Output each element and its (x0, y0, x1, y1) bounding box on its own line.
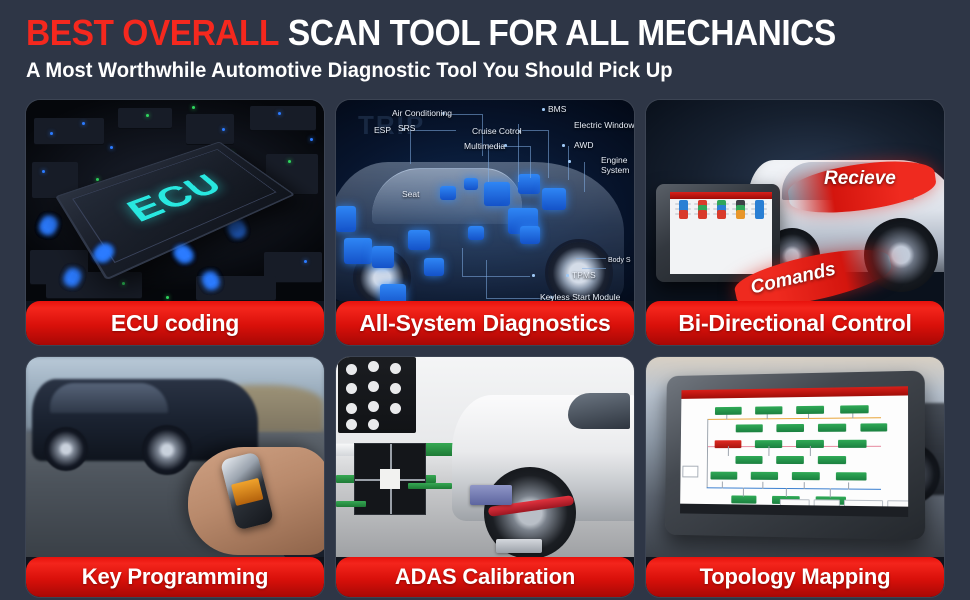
feature-card-adas-calibration[interactable]: ADAS Calibration (336, 357, 634, 597)
callout-tpms: TPMS (572, 270, 596, 280)
feature-card-ecu-coding[interactable]: ECU ECU coding (26, 100, 324, 345)
topology-tablet (665, 371, 925, 541)
callout-awd: AWD (574, 140, 594, 150)
card-label-all-system-diagnostics[interactable]: All-System Diagnostics (336, 301, 634, 345)
callout-seat: Seat (402, 189, 420, 199)
ecu-chip-label: ECU (118, 167, 232, 229)
callout-bms: BMS (548, 104, 566, 114)
all-system-diagnostics-image: TRIP (336, 100, 634, 301)
feature-card-topology-mapping[interactable]: Topology Mapping (646, 357, 944, 597)
feature-card-grid: ECU ECU coding TRIP (26, 100, 944, 597)
headline-rest: SCAN TOOL FOR ALL MECHANICS (288, 12, 836, 53)
scan-tablet (656, 184, 780, 282)
callout-srs: SRS (398, 123, 415, 133)
feature-card-key-programming[interactable]: Key Programming (26, 357, 324, 597)
card-label-bi-directional-control[interactable]: Bi-Directional Control (646, 301, 944, 345)
callout-electric-window: Electric Window (574, 120, 634, 130)
ecu-coding-image: ECU (26, 100, 324, 301)
headline-highlight: BEST OVERALL (26, 12, 279, 53)
callout-body-s: Body S (608, 257, 631, 264)
callout-air-conditioning: Air Conditioning (392, 108, 452, 118)
callout-keyless-start-module: Keyless Start Module (540, 292, 620, 301)
topology-mapping-image (646, 357, 944, 557)
header-banner: BEST OVERALL SCAN TOOL FOR ALL MECHANICS… (0, 0, 970, 98)
callout-cruise-control: Cruise Cotrol (472, 126, 522, 136)
page-subtitle: A Most Worthwhile Automotive Diagnostic … (26, 58, 932, 84)
adas-calibration-image (336, 357, 634, 557)
wheel-clamp-target (470, 485, 512, 505)
callout-engine-system: Engine System (601, 155, 634, 175)
arrow-label-receive: Recieve (824, 168, 896, 190)
card-label-ecu-coding[interactable]: ECU coding (26, 301, 324, 345)
bi-directional-control-image: Recieve Comands (646, 100, 944, 301)
card-label-key-programming[interactable]: Key Programming (26, 557, 324, 597)
key-programming-image (26, 357, 324, 557)
adas-target-panel (338, 357, 416, 433)
page-title: BEST OVERALL SCAN TOOL FOR ALL MECHANICS (26, 13, 904, 53)
card-label-topology-mapping[interactable]: Topology Mapping (646, 557, 944, 597)
feature-card-bi-directional-control[interactable]: Recieve Comands Bi-Directional Control (646, 100, 944, 345)
feature-card-all-system-diagnostics[interactable]: TRIP (336, 100, 634, 345)
callout-esp: ESP (374, 125, 391, 135)
card-label-adas-calibration[interactable]: ADAS Calibration (336, 557, 634, 597)
callout-multimedia: Multimedia (464, 141, 505, 151)
